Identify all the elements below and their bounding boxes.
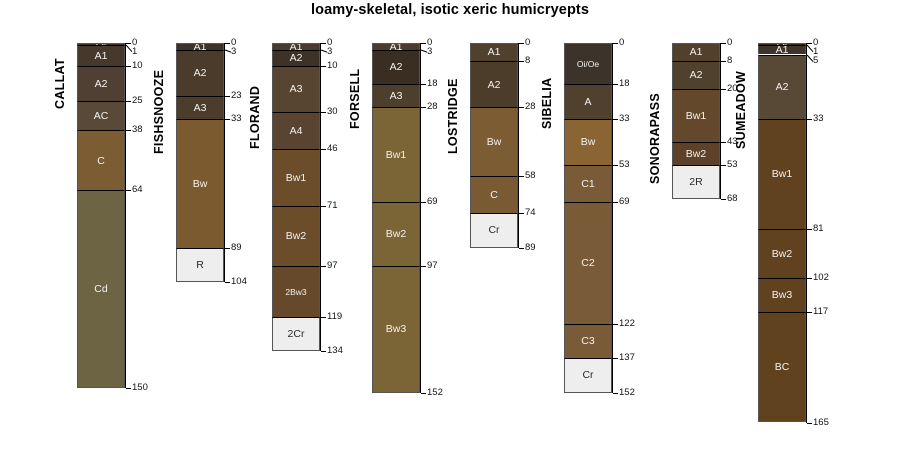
depth-tick: [321, 317, 326, 318]
horizon-block: A3: [272, 66, 320, 112]
depth-tick-label: 53: [619, 160, 630, 170]
depth-tick: [613, 393, 618, 394]
horizon-label: A1: [690, 47, 703, 58]
horizon-block: A3: [372, 84, 420, 107]
profile-name-label: CALLAT: [53, 58, 67, 109]
horizon-block: Bw2: [758, 229, 806, 277]
depth-tick-label: 10: [327, 61, 338, 71]
horizon-block: A2: [470, 61, 518, 107]
horizon-block: A2: [758, 55, 806, 119]
depth-tick: [613, 119, 618, 120]
depth-tick-label: 3: [327, 47, 332, 57]
depth-tick-label: 89: [525, 243, 536, 253]
soil-profile-sumeadow: SUMEADOWOiA1A2Bw1Bw2Bw3BC015338110211716…: [758, 0, 806, 450]
horizon-block: Bw1: [672, 89, 720, 142]
horizon-label: A4: [290, 126, 303, 137]
horizon-label: Bw: [487, 137, 502, 148]
depth-tick: [807, 278, 812, 279]
horizon-label: Bw1: [386, 150, 406, 161]
depth-tick: [225, 248, 230, 249]
depth-tick: [721, 199, 726, 200]
profile-name-label: LOSTRIDGE: [446, 78, 460, 154]
depth-tick: [613, 84, 618, 85]
depth-tick: [126, 130, 131, 131]
depth-tick: [519, 43, 524, 44]
soil-profile-callat: CALLATOiA1A2ACCCd0110253864150: [77, 0, 125, 450]
depth-tick-label: 71: [327, 201, 338, 211]
depth-tick-label: 74: [525, 208, 536, 218]
horizon-label: A1: [194, 43, 207, 50]
horizon-label: Bw2: [386, 229, 406, 240]
horizon-block: A4: [272, 112, 320, 149]
horizon-label: 2Bw3: [285, 288, 306, 297]
depth-tick: [721, 61, 726, 62]
soil-profile-lostridge: LOSTRIDGEA1A2BwCCr0828587489: [470, 0, 518, 450]
soil-profile-sibelia: SIBELIAOi/OeABwC1C2C3Cr01833536912213715…: [564, 0, 612, 450]
horizon-block: A3: [176, 96, 224, 119]
horizon-label: C2: [581, 258, 594, 269]
profile-name-label: SONORAPASS: [648, 93, 662, 184]
depth-tick: [421, 393, 426, 394]
horizon-block: Bw2: [672, 142, 720, 165]
horizon-block: A: [564, 84, 612, 119]
horizon-label: A2: [290, 53, 303, 64]
horizon-block: 2Bw3: [272, 266, 320, 317]
horizon-block: A1: [77, 45, 125, 66]
depth-tick-label: 89: [231, 243, 242, 253]
depth-axis: [518, 43, 519, 248]
depth-tick: [321, 266, 326, 267]
horizon-label: A2: [95, 79, 108, 90]
horizon-block: Cr: [470, 213, 518, 248]
depth-tick-label: 104: [231, 277, 247, 287]
depth-tick: [321, 43, 326, 44]
depth-axis: [224, 43, 225, 282]
depth-tick-label: 30: [327, 107, 338, 117]
horizon-label: A3: [390, 91, 403, 102]
horizon-label: 2R: [689, 177, 702, 188]
depth-tick-label: 8: [525, 56, 530, 66]
depth-tick: [721, 165, 726, 166]
profile-name-label: SUMEADOW: [734, 71, 748, 149]
depth-tick: [807, 312, 812, 313]
horizon-block: Bw3: [372, 266, 420, 393]
depth-tick: [421, 266, 426, 267]
horizon-label: R: [196, 260, 204, 271]
depth-tick: [519, 176, 524, 177]
horizon-label: A1: [390, 43, 403, 50]
horizon-block: A1: [372, 43, 420, 50]
depth-tick: [126, 66, 131, 67]
horizon-block: Cr: [564, 358, 612, 393]
depth-tick: [126, 388, 131, 389]
depth-tick: [721, 142, 726, 143]
depth-tick-label: 117: [813, 307, 828, 317]
depth-tick-label: 23: [231, 91, 242, 101]
depth-tick-label: 68: [727, 194, 738, 204]
depth-tick-label: 119: [327, 312, 342, 322]
horizon-block: Oi/Oe: [564, 43, 612, 84]
depth-tick: [519, 61, 524, 62]
depth-tick-label: 28: [525, 102, 536, 112]
depth-tick-label: 33: [619, 114, 630, 124]
horizon-label: A2: [690, 70, 703, 81]
depth-tick-label: 97: [427, 261, 438, 271]
depth-tick-label: 122: [619, 319, 635, 329]
horizon-block: A1: [272, 43, 320, 50]
horizon-block: Bw1: [758, 119, 806, 229]
depth-tick-label: 10: [132, 61, 143, 71]
depth-tick: [421, 107, 426, 108]
depth-tick: [126, 101, 131, 102]
horizon-block: Bw1: [372, 107, 420, 201]
depth-tick-label: 165: [813, 418, 829, 428]
horizon-label: A2: [194, 68, 207, 79]
depth-tick-label: 18: [619, 79, 630, 89]
depth-tick: [321, 66, 326, 67]
horizon-block: R: [176, 248, 224, 283]
depth-tick-label: 0: [727, 38, 732, 48]
horizon-label: Bw1: [286, 173, 306, 184]
depth-tick-label: 38: [132, 125, 143, 135]
horizon-block: BC: [758, 312, 806, 422]
horizon-block: A2: [272, 50, 320, 66]
depth-tick: [807, 43, 812, 44]
horizon-block: Cd: [77, 190, 125, 388]
depth-tick-label: 97: [327, 261, 338, 271]
horizon-block: A1: [176, 43, 224, 50]
depth-tick: [225, 43, 230, 44]
horizon-label: A3: [194, 103, 207, 114]
depth-tick-label: 53: [727, 160, 738, 170]
horizon-label: Bw2: [286, 231, 306, 242]
horizon-block: Bw: [564, 119, 612, 165]
horizon-block: Bw2: [372, 202, 420, 266]
depth-axis: [420, 43, 421, 393]
horizon-block: C1: [564, 165, 612, 202]
depth-tick-label: 33: [231, 114, 242, 124]
horizon-label: AC: [94, 111, 109, 122]
profile-name-label: FLORAND: [248, 86, 262, 149]
horizon-label: A2: [776, 82, 789, 93]
depth-tick-label: 102: [813, 273, 829, 283]
depth-axis: [125, 43, 126, 388]
horizon-label: Bw3: [386, 324, 406, 335]
depth-tick: [613, 324, 618, 325]
soil-profile-fishsnooze: FISHSNOOZEA1A2A3BwR03233389104: [176, 0, 224, 450]
depth-tick: [421, 84, 426, 85]
depth-tick: [613, 358, 618, 359]
depth-tick-label: 0: [619, 38, 624, 48]
horizon-block: A1: [758, 45, 806, 54]
horizon-label: A1: [290, 43, 303, 50]
depth-tick-label: 33: [813, 114, 824, 124]
depth-tick: [519, 248, 524, 249]
horizon-block: C2: [564, 202, 612, 324]
depth-tick: [519, 107, 524, 108]
horizon-label: Bw1: [686, 111, 706, 122]
horizon-block: A2: [372, 50, 420, 85]
horizon-block: Bw3: [758, 278, 806, 313]
depth-tick: [126, 190, 131, 191]
depth-tick-label: 0: [525, 38, 530, 48]
horizon-label: Bw: [193, 179, 208, 190]
depth-tick: [421, 43, 426, 44]
depth-tick-label: 3: [427, 47, 432, 57]
depth-tick: [225, 119, 230, 120]
depth-tick-label: 28: [427, 102, 438, 112]
depth-tick: [807, 119, 812, 120]
horizon-label: A: [584, 97, 591, 108]
depth-tick-label: 69: [427, 197, 438, 207]
depth-tick-label: 3: [231, 47, 236, 57]
depth-tick: [321, 149, 326, 150]
horizon-block: 2R: [672, 165, 720, 200]
depth-tick-label: 46: [327, 144, 338, 154]
depth-tick-label: 150: [132, 383, 148, 393]
horizon-label: A3: [290, 84, 303, 95]
depth-tick: [225, 282, 230, 283]
horizon-label: A1: [95, 51, 108, 62]
profile-name-label: SIBELIA: [540, 78, 554, 129]
depth-tick: [321, 206, 326, 207]
horizon-block: C: [470, 176, 518, 213]
horizon-label: A2: [390, 62, 403, 73]
depth-tick: [613, 165, 618, 166]
horizon-block: 2Cr: [272, 317, 320, 352]
horizon-label: C: [97, 156, 105, 167]
horizon-label: Bw3: [772, 290, 792, 301]
depth-tick-label: 1: [132, 47, 137, 57]
depth-tick: [321, 351, 326, 352]
depth-axis: [720, 43, 721, 199]
depth-tick: [421, 202, 426, 203]
horizon-block: A1: [470, 43, 518, 61]
depth-tick-label: 58: [525, 171, 536, 181]
horizon-label: A1: [776, 45, 789, 54]
horizon-block: C3: [564, 324, 612, 359]
horizon-label: BC: [775, 362, 790, 373]
depth-tick-label: 18: [427, 79, 438, 89]
depth-tick-label: 5: [813, 56, 818, 66]
horizon-label: Bw2: [772, 249, 792, 260]
depth-tick: [225, 96, 230, 97]
horizon-block: A2: [77, 66, 125, 101]
profile-name-label: FISHSNOOZE: [152, 70, 166, 154]
depth-tick-label: 152: [427, 388, 443, 398]
depth-axis: [806, 43, 807, 423]
depth-tick-label: 64: [132, 185, 143, 195]
horizon-block: A2: [672, 61, 720, 89]
depth-tick: [519, 213, 524, 214]
horizon-block: AC: [77, 101, 125, 131]
soil-profile-forsell: FORSELLA1A2A3Bw1Bw2Bw30318286997152: [372, 0, 420, 450]
horizon-label: C3: [581, 336, 594, 347]
horizon-label: A2: [488, 80, 501, 91]
horizon-block: Bw: [176, 119, 224, 248]
depth-axis: [612, 43, 613, 393]
depth-tick-label: 8: [727, 56, 732, 66]
depth-axis: [320, 43, 321, 351]
depth-tick: [807, 229, 812, 230]
depth-tick-label: 152: [619, 388, 635, 398]
depth-tick: [721, 43, 726, 44]
horizon-label: Bw1: [772, 169, 792, 180]
horizon-block: A1: [672, 43, 720, 61]
depth-tick: [321, 112, 326, 113]
horizon-label: C: [490, 190, 498, 201]
soil-profile-florand: FLORANDA1A2A3A4Bw1Bw22Bw32Cr031030467197…: [272, 0, 320, 450]
depth-tick: [126, 43, 131, 44]
depth-tick-label: 137: [619, 353, 635, 363]
depth-tick: [721, 89, 726, 90]
horizon-block: Bw2: [272, 206, 320, 266]
horizon-label: C1: [581, 179, 594, 190]
horizon-label: Cr: [488, 225, 499, 236]
profile-name-label: FORSELL: [348, 69, 362, 129]
horizon-block: C: [77, 130, 125, 190]
horizon-block: Bw: [470, 107, 518, 176]
horizon-label: A1: [488, 47, 501, 58]
depth-tick-label: 134: [327, 346, 343, 356]
horizon-label: Bw2: [686, 149, 706, 160]
soil-profile-sonorapass: SONORAPASSA1A2Bw1Bw22R0820435368: [672, 0, 720, 450]
horizon-label: Cr: [582, 370, 593, 381]
horizon-block: A2: [176, 50, 224, 96]
depth-tick-label: 81: [813, 224, 824, 234]
depth-tick: [807, 423, 812, 424]
horizon-block: Bw1: [272, 149, 320, 207]
horizon-label: 2Cr: [288, 329, 305, 340]
depth-tick: [613, 43, 618, 44]
soil-profile-plot: CALLATOiA1A2ACCCd0110253864150FISHSNOOZE…: [0, 0, 900, 450]
depth-tick-label: 69: [619, 197, 630, 207]
depth-tick: [613, 202, 618, 203]
horizon-label: Oi/Oe: [577, 60, 599, 69]
horizon-label: Bw: [581, 137, 596, 148]
horizon-label: Cd: [94, 284, 107, 295]
depth-tick-label: 25: [132, 96, 143, 106]
